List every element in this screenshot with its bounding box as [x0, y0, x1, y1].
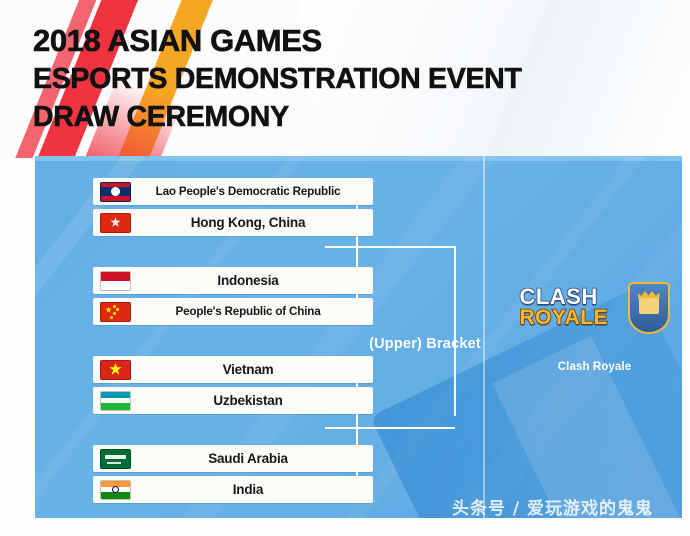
flag-indonesia-icon: [100, 271, 131, 291]
team-row[interactable]: Saudi Arabia: [93, 445, 373, 472]
team-name: Hong Kong, China: [131, 215, 373, 230]
page-title: 2018 ASIAN GAMES ESPORTS DEMONSTRATION E…: [33, 22, 673, 136]
logo-wordmark: CLASH ROYALE: [520, 286, 628, 329]
logo-secondary-text: ROYALE: [520, 307, 628, 329]
bracket-pair-1: Lao People's Democratic Republic Hong Ko…: [93, 178, 373, 236]
team-list: Lao People's Democratic Republic Hong Ko…: [93, 178, 373, 507]
team-row[interactable]: Hong Kong, China: [93, 209, 373, 236]
bracket-label: (Upper) Bracket: [345, 336, 505, 352]
pair-spacer: [93, 240, 373, 267]
flag-saudi-arabia-icon: [100, 449, 131, 469]
king-figure-icon: [639, 298, 659, 314]
watermark: 头条号 / 爱玩游戏的鬼鬼: [452, 494, 653, 519]
bracket-pair-3: Vietnam Uzbekistan: [93, 356, 373, 414]
logo-primary-text: CLASH: [520, 286, 628, 307]
flag-laos-icon: [100, 182, 131, 202]
flag-india-icon: [100, 480, 131, 500]
poster-canvas: 2018 ASIAN GAMES ESPORTS DEMONSTRATION E…: [0, 0, 690, 536]
title-line-2: ESPORTS DEMONSTRATION EVENT: [33, 60, 673, 98]
team-name: Vietnam: [131, 362, 373, 377]
team-row[interactable]: Vietnam: [93, 356, 373, 383]
bracket-panel: Lao People's Democratic Republic Hong Ko…: [35, 156, 682, 518]
vertical-divider: [483, 156, 485, 518]
title-line-1: 2018 ASIAN GAMES: [33, 22, 673, 60]
flag-china-icon: [100, 302, 131, 322]
team-name: People's Republic of China: [131, 305, 373, 318]
team-row[interactable]: Uzbekistan: [93, 387, 373, 414]
flag-hong-kong-icon: [100, 213, 131, 233]
game-caption: Clash Royale: [507, 361, 682, 373]
game-logo-block: CLASH ROYALE Clash Royale: [507, 282, 682, 373]
pair-spacer: [93, 418, 373, 445]
team-name: India: [131, 482, 373, 497]
team-name: Indonesia: [131, 273, 373, 288]
team-row[interactable]: People's Republic of China: [93, 298, 373, 325]
team-name: Uzbekistan: [131, 393, 373, 408]
shield-crest-icon: [628, 282, 670, 334]
team-row[interactable]: India: [93, 476, 373, 503]
team-row[interactable]: Indonesia: [93, 267, 373, 294]
title-line-3: DRAW CEREMONY: [33, 98, 673, 136]
clash-royale-logo-icon: CLASH ROYALE: [520, 282, 670, 344]
flag-uzbekistan-icon: [100, 391, 131, 411]
team-name: Saudi Arabia: [131, 451, 373, 466]
pair-spacer: [93, 329, 373, 356]
flag-vietnam-icon: [100, 360, 131, 380]
bracket-pair-2: Indonesia People's Republic of China: [93, 267, 373, 325]
team-name: Lao People's Democratic Republic: [131, 185, 373, 198]
team-row[interactable]: Lao People's Democratic Republic: [93, 178, 373, 205]
bracket-pair-4: Saudi Arabia India: [93, 445, 373, 503]
header-zone: 2018 ASIAN GAMES ESPORTS DEMONSTRATION E…: [0, 0, 690, 158]
